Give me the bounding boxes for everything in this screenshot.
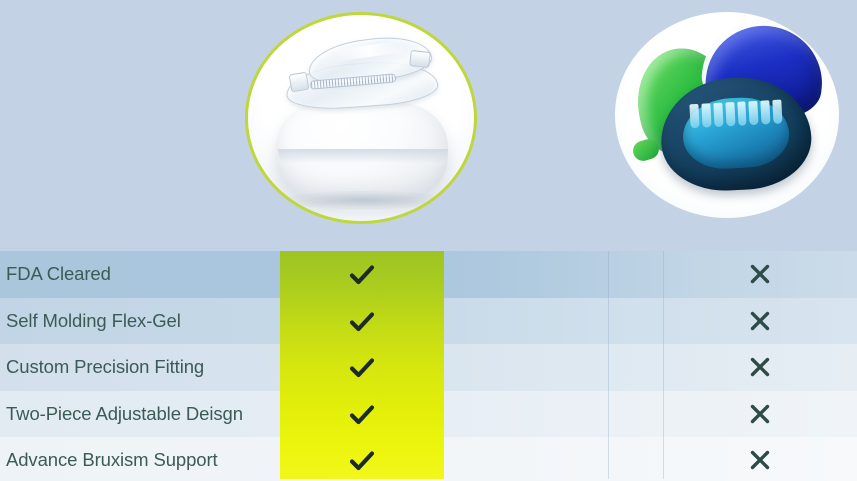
product-image-clear-mouthpiece xyxy=(245,12,477,224)
check-icon xyxy=(280,355,444,380)
tooth-impression xyxy=(749,101,759,125)
clear-mouthpiece-shape xyxy=(282,37,444,111)
tooth-impression xyxy=(761,100,771,124)
mouthpiece-clip-right xyxy=(409,50,431,68)
feature-comparison-table: FDA ClearedSelf Molding Flex-GelCustom P… xyxy=(0,251,857,479)
cross-icon xyxy=(663,355,857,379)
product-image-sports-mouthguards xyxy=(615,12,839,218)
check-icon xyxy=(280,262,444,287)
feature-label: Two-Piece Adjustable Deisgn xyxy=(0,403,280,425)
comparison-page: FDA ClearedSelf Molding Flex-GelCustom P… xyxy=(0,0,857,481)
feature-label: Custom Precision Fitting xyxy=(0,356,280,378)
cross-icon xyxy=(663,262,857,286)
tooth-impression xyxy=(713,103,723,127)
feature-label: FDA Cleared xyxy=(0,263,280,285)
tooth-impression xyxy=(701,103,711,127)
feature-label: Self Molding Flex-Gel xyxy=(0,310,280,332)
check-icon xyxy=(280,308,444,333)
case-seam-shape xyxy=(278,149,448,175)
cross-icon xyxy=(663,402,857,426)
tooth-impression xyxy=(737,101,747,125)
tooth-impression xyxy=(725,102,735,126)
check-icon xyxy=(280,448,444,473)
cross-icon xyxy=(663,309,857,333)
tooth-impression xyxy=(772,100,782,124)
hero-product-images xyxy=(0,0,857,250)
feature-label: Advance Bruxism Support xyxy=(0,449,280,471)
case-shadow-shape xyxy=(282,191,446,209)
tooth-impression xyxy=(689,104,699,128)
column-divider xyxy=(608,251,609,479)
mouthpiece-clip-left xyxy=(289,72,310,93)
check-icon xyxy=(280,401,444,426)
cross-icon xyxy=(663,448,857,472)
mouthguard-teeth-impressions xyxy=(689,100,782,129)
